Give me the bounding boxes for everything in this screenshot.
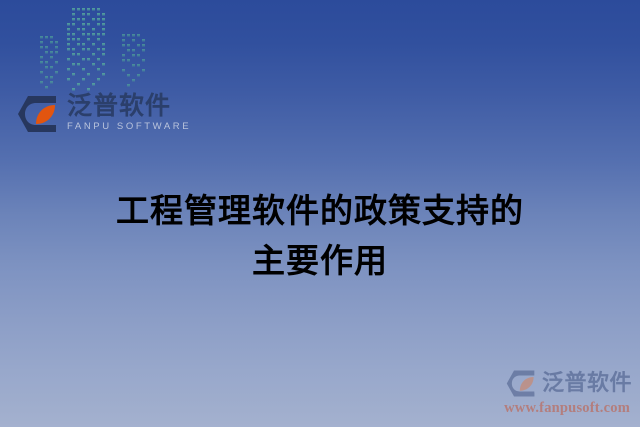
page-title: 工程管理软件的政策支持的 主要作用 xyxy=(0,186,640,286)
watermark-url: www.fanpusoft.com xyxy=(472,400,632,417)
brand-logo-cn: 泛普软件 xyxy=(67,92,191,120)
pixel-city-decoration xyxy=(38,0,208,98)
page-title-line-1: 工程管理软件的政策支持的 xyxy=(0,186,640,236)
watermark-logo-cn: 泛普软件 xyxy=(542,371,632,395)
brand-logo-en: FANPU SOFTWARE xyxy=(67,121,191,133)
fanpu-logo-mark-icon xyxy=(16,94,62,134)
pixel-city-icon xyxy=(38,0,208,98)
brand-logo: 泛普软件 FANPU SOFTWARE xyxy=(16,92,186,142)
page-title-line-2: 主要作用 xyxy=(0,236,640,286)
brand-logo-text: 泛普软件 FANPU SOFTWARE xyxy=(67,92,191,133)
watermark-logo-row: 泛普软件 xyxy=(472,367,632,399)
slide-canvas: 泛普软件 FANPU SOFTWARE 工程管理软件的政策支持的 主要作用 泛普… xyxy=(0,0,640,427)
watermark: 泛普软件 www.fanpusoft.com xyxy=(472,367,632,419)
watermark-logo-mark-icon xyxy=(505,369,539,398)
